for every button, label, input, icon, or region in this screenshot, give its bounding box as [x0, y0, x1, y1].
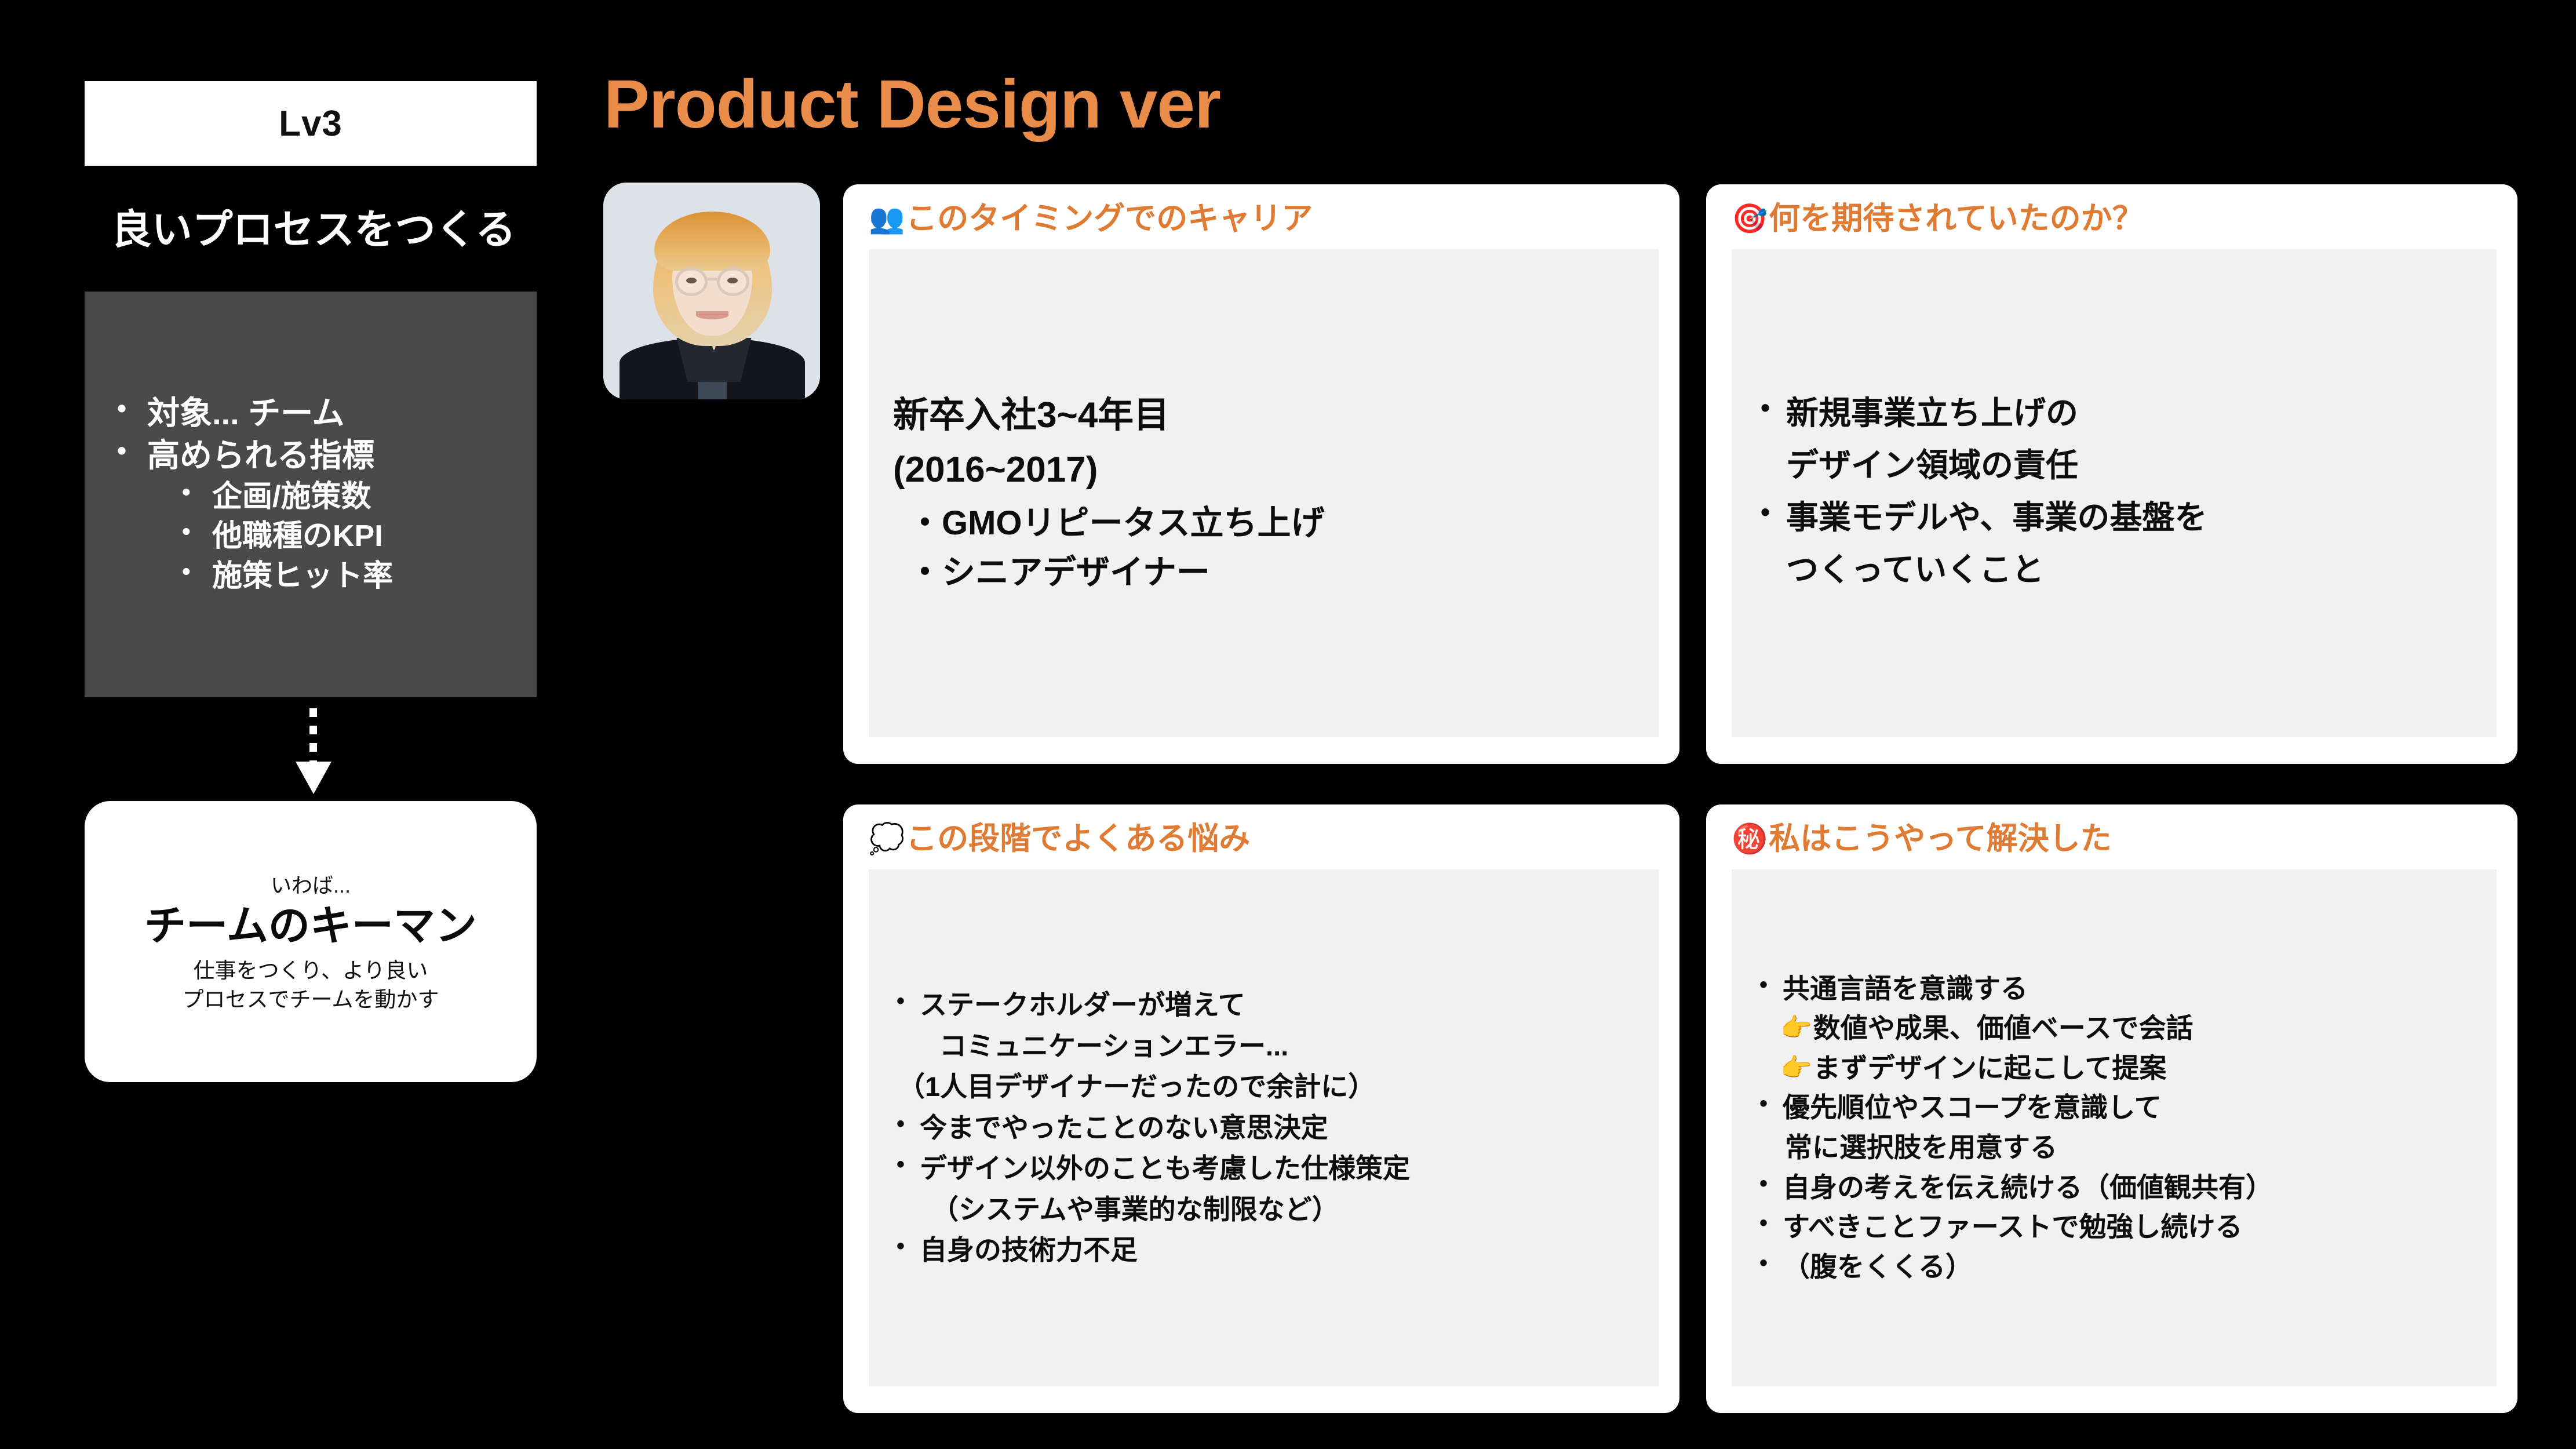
card-career: 👥 このタイミングでのキャリア 新卒入社3~4年目 (2016~2017) ・G…	[843, 184, 1679, 764]
card-troubles-title: 💭 この段階でよくある悩み	[869, 823, 1659, 854]
direct-hit-icon: 🎯	[1732, 204, 1768, 233]
summary-subtitle-line2: プロセスでチームを動かす	[183, 985, 439, 1014]
level-badge-label: Lv3	[279, 103, 343, 144]
card-line: デザイン領域の責任	[1756, 441, 2472, 490]
card-line: つくっていくこと	[1756, 545, 2472, 594]
card-line: コミュニケーションエラー...	[893, 1026, 1634, 1067]
card-line: 共通言語を意識する	[1756, 969, 2472, 1009]
card-line: 常に選択肢を用意する	[1756, 1128, 2472, 1168]
card-line: すべきことファーストで勉強し続ける	[1756, 1207, 2472, 1247]
arrow-head	[296, 762, 331, 794]
pointing-right-icon: 👉	[1780, 1010, 1812, 1047]
metrics-gray-box: 対象... チーム 高められる指標 企画/施策数 他職種のKPI 施策ヒット率	[85, 292, 537, 697]
dashed-down-arrow-icon	[284, 708, 342, 795]
card-line: (2016~2017)	[893, 444, 1634, 497]
summary-card: いわば... チームのキーマン 仕事をつくり、より良い プロセスでチームを動かす	[85, 801, 537, 1082]
arrow-dash-line	[309, 708, 317, 765]
avatar-glasses-bridge	[708, 278, 717, 281]
card-solutions-body: 共通言語を意識する 👉 数値や成果、価値ベースで会話 👉 まずデザインに起こして…	[1732, 869, 2497, 1386]
card-solutions-title-label: 私はこうやって解決した	[1769, 823, 2111, 854]
summary-subtitle-line1: 仕事をつくり、より良い	[194, 956, 428, 985]
level-badge: Lv3	[85, 81, 537, 166]
card-line: 自身の考えを伝え続ける（価値観共有）	[1756, 1168, 2472, 1208]
card-expectations-title-label: 何を期待されていたのか？	[1769, 203, 2143, 234]
card-line: 新規事業立ち上げの	[1756, 389, 2472, 438]
card-line: （腹をくくる）	[1756, 1247, 2472, 1287]
card-line: （システムや事業的な制限など）	[893, 1189, 1634, 1230]
card-line: ・シニアデザイナー	[893, 548, 1634, 598]
pointing-right-icon: 👉	[1780, 1050, 1812, 1087]
list-item: 企画/施策数	[102, 477, 525, 517]
page-title: Product Design ver	[604, 65, 1220, 144]
card-troubles-body: ステークホルダーが増えて コミュニケーションエラー... （1人目デザイナーだっ…	[869, 869, 1659, 1386]
list-item: 施策ヒット率	[102, 556, 525, 596]
card-career-title-label: このタイミングでのキャリア	[906, 203, 1313, 234]
avatar-photo	[603, 183, 820, 399]
card-line: 新卒入社3~4年目	[893, 389, 1634, 442]
card-troubles: 💭 この段階でよくある悩み ステークホルダーが増えて コミュニケーションエラー.…	[843, 804, 1679, 1413]
card-line: 事業モデルや、事業の基盤を	[1756, 493, 2472, 542]
avatar-glasses-right	[717, 267, 749, 296]
summary-kicker: いわば...	[271, 869, 351, 899]
metrics-list: 対象... チーム 高められる指標 企画/施策数 他職種のKPI 施策ヒット率	[102, 392, 525, 596]
card-expectations-title: 🎯 何を期待されていたのか？	[1732, 203, 2497, 234]
card-troubles-title-label: この段階でよくある悩み	[906, 823, 1250, 854]
card-line: ステークホルダーが増えて	[893, 985, 1634, 1026]
card-line-label: まずデザインに起こして提案	[1813, 1048, 2167, 1088]
card-line: デザイン以外のことも考慮した仕様策定	[893, 1148, 1634, 1189]
card-line: 👉 数値や成果、価値ベースで会話	[1756, 1009, 2472, 1048]
list-item: 他職種のKPI	[102, 516, 525, 556]
list-item: 対象... チーム	[102, 392, 525, 435]
summary-title: チームのキーマン	[144, 904, 477, 949]
card-line: 今までやったことのない意思決定	[893, 1108, 1634, 1149]
card-line: 優先順位やスコープを意識して	[1756, 1088, 2472, 1128]
card-line: ・GMOリピータス立ち上げ	[893, 499, 1634, 548]
card-line-label: 数値や成果、価値ベースで会話	[1813, 1009, 2194, 1048]
avatar-mouth	[696, 311, 728, 319]
card-career-body: 新卒入社3~4年目 (2016~2017) ・GMOリピータス立ち上げ ・シニア…	[869, 249, 1659, 737]
card-solutions-title: ㊙️ 私はこうやって解決した	[1732, 823, 2497, 854]
card-career-title: 👥 このタイミングでのキャリア	[869, 203, 1659, 234]
thought-balloon-icon: 💭	[869, 824, 905, 853]
avatar	[603, 183, 820, 399]
secret-button-icon: ㊙️	[1732, 824, 1768, 853]
slide-root: Lv3 良いプロセスをつくる 対象... チーム 高められる指標 企画/施策数 …	[0, 0, 2576, 1449]
sidebar-heading: 良いプロセスをつくる	[85, 197, 542, 256]
card-line: （1人目デザイナーだったので余計に）	[893, 1066, 1634, 1108]
card-line: 自身の技術力不足	[893, 1230, 1634, 1271]
list-item: 高められる指標	[102, 435, 525, 477]
card-expectations-body: 新規事業立ち上げの デザイン領域の責任 事業モデルや、事業の基盤を つくっていく…	[1732, 249, 2497, 737]
avatar-bangs	[654, 212, 770, 271]
card-solutions: ㊙️ 私はこうやって解決した 共通言語を意識する 👉 数値や成果、価値ベースで会…	[1706, 804, 2517, 1413]
busts-in-silhouette-icon: 👥	[869, 204, 905, 233]
card-line: 👉 まずデザインに起こして提案	[1756, 1048, 2472, 1088]
card-expectations: 🎯 何を期待されていたのか？ 新規事業立ち上げの デザイン領域の責任 事業モデル…	[1706, 184, 2517, 764]
avatar-glasses-left	[675, 267, 708, 296]
